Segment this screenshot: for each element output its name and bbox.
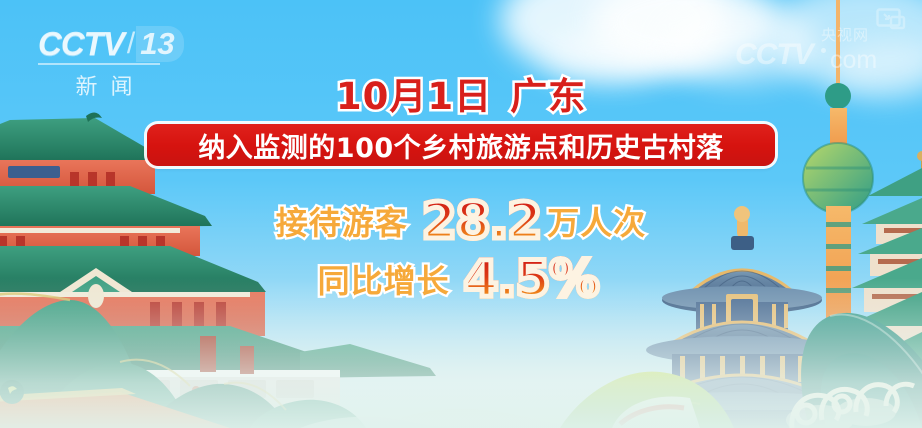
channel-brand-text: CCTV bbox=[38, 27, 124, 61]
stat-row-growth: 同比增长4.5% bbox=[0, 254, 922, 304]
channel-number: 13 bbox=[136, 26, 183, 62]
stat-row-visitors: 接待游客28.2万人次 bbox=[0, 196, 922, 246]
logo-underline bbox=[38, 63, 160, 65]
watermark-chinese: 央视网 bbox=[821, 24, 869, 45]
stat-value: 4.5% bbox=[464, 254, 599, 304]
red-banner: 纳入监测的100个乡村旅游点和历史古村落 bbox=[147, 124, 775, 166]
broadcast-screen: CCTV / 13 新闻 CCTV com 央视网 10月1日广东 纳入监测的1… bbox=[0, 0, 922, 428]
picture-in-picture-icon[interactable] bbox=[876, 8, 906, 30]
headline-region: 广东 bbox=[510, 75, 586, 118]
banner-text: 纳入监测的100个乡村旅游点和历史古村落 bbox=[198, 126, 723, 165]
stat-label-prefix: 接待游客 bbox=[276, 198, 408, 244]
stat-label-prefix: 同比增长 bbox=[318, 256, 450, 302]
watermark-dot bbox=[821, 48, 826, 53]
stat-label-suffix: 万人次 bbox=[547, 198, 646, 244]
headline: 10月1日广东 bbox=[0, 66, 922, 120]
headline-date: 10月1日 bbox=[336, 75, 492, 118]
stat-value: 28.2 bbox=[422, 196, 541, 246]
logo-slash: / bbox=[127, 27, 135, 61]
